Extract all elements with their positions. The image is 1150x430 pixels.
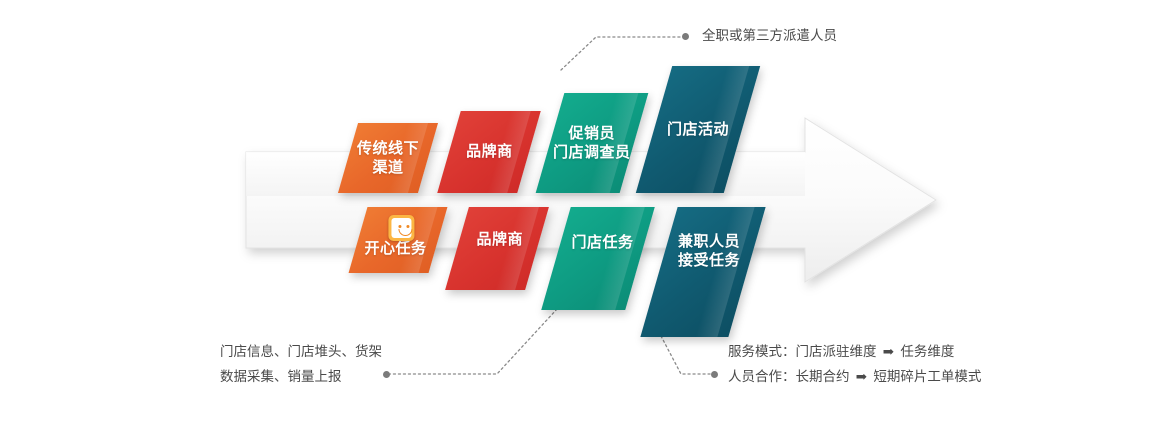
right-arrow-icon: ➡ xyxy=(881,344,896,360)
stage-block-label: 开心任务 xyxy=(364,239,426,258)
annotation-line-service-mode: 服务模式：门店派驻维度 ➡ 任务维度 xyxy=(728,340,981,365)
connector-dot-bottom-left xyxy=(383,371,390,378)
annotation-suffix: 任务维度 xyxy=(900,344,954,360)
smiley-mouth xyxy=(398,229,412,236)
diagram-canvas: 传统线下 渠道 品牌商 促销员 门店调查员 门店活动 开心任务 品牌商 门店任务 xyxy=(0,0,1150,430)
stage-block-parttime-accepts-task[interactable]: 兼职人员 接受任务 xyxy=(640,207,765,337)
connector-bottom-left xyxy=(390,309,557,374)
stage-block-brand-owner-bottom[interactable]: 品牌商 xyxy=(445,207,549,290)
connector-dot-bottom-right xyxy=(711,371,718,378)
connector-top-right xyxy=(561,37,683,70)
annotation-prefix: 服务模式：门店派驻维度 xyxy=(728,344,877,360)
annotation-prefix: 人员合作：长期合约 xyxy=(728,369,850,385)
stage-block-label: 兼职人员 接受任务 xyxy=(678,232,740,270)
connector-bottom-right xyxy=(661,336,712,374)
stage-block-label: 促销员 门店调查员 xyxy=(553,124,631,162)
smiley-eye-right xyxy=(406,225,409,228)
stage-block-label: 品牌商 xyxy=(476,230,523,249)
block-gloss xyxy=(695,207,755,337)
stage-block-brand-owner-top[interactable]: 品牌商 xyxy=(437,111,541,193)
annotation-task-scope: 门店信息、门店堆头、货架 数据采集、销量上报 xyxy=(220,340,382,390)
connector-dot-top-right xyxy=(682,33,689,40)
annotation-service-model: 服务模式：门店派驻维度 ➡ 任务维度 人员合作：长期合约 ➡ 短期碎片工单模式 xyxy=(728,340,981,390)
stage-block-label: 品牌商 xyxy=(466,142,513,161)
annotation-line-cooperation: 人员合作：长期合约 ➡ 短期碎片工单模式 xyxy=(728,365,981,390)
annotation-suffix: 短期碎片工单模式 xyxy=(873,369,981,385)
annotation-staffing-type: 全职或第三方派遣人员 xyxy=(702,24,837,49)
annotation-line: 门店信息、门店堆头、货架 xyxy=(220,340,382,365)
stage-block-store-task[interactable]: 门店任务 xyxy=(541,207,655,310)
stage-block-traditional-offline-channel[interactable]: 传统线下 渠道 xyxy=(338,123,438,193)
stage-block-promoter-surveyor[interactable]: 促销员 门店调查员 xyxy=(536,93,649,193)
smiley-logo-face xyxy=(391,218,411,238)
stage-block-label: 门店任务 xyxy=(572,233,634,252)
stage-block-store-activity[interactable]: 门店活动 xyxy=(636,66,760,193)
block-gloss xyxy=(593,207,644,310)
stage-block-happy-task[interactable]: 开心任务 xyxy=(349,207,448,273)
smiley-eye-left xyxy=(398,225,401,228)
stage-block-label: 传统线下 渠道 xyxy=(357,139,419,177)
annotation-line: 数据采集、销量上报 xyxy=(220,365,382,390)
smiley-logo-icon xyxy=(388,215,414,241)
annotation-line: 全职或第三方派遣人员 xyxy=(702,24,837,49)
stage-block-label: 门店活动 xyxy=(667,120,729,139)
right-arrow-icon: ➡ xyxy=(854,369,869,385)
